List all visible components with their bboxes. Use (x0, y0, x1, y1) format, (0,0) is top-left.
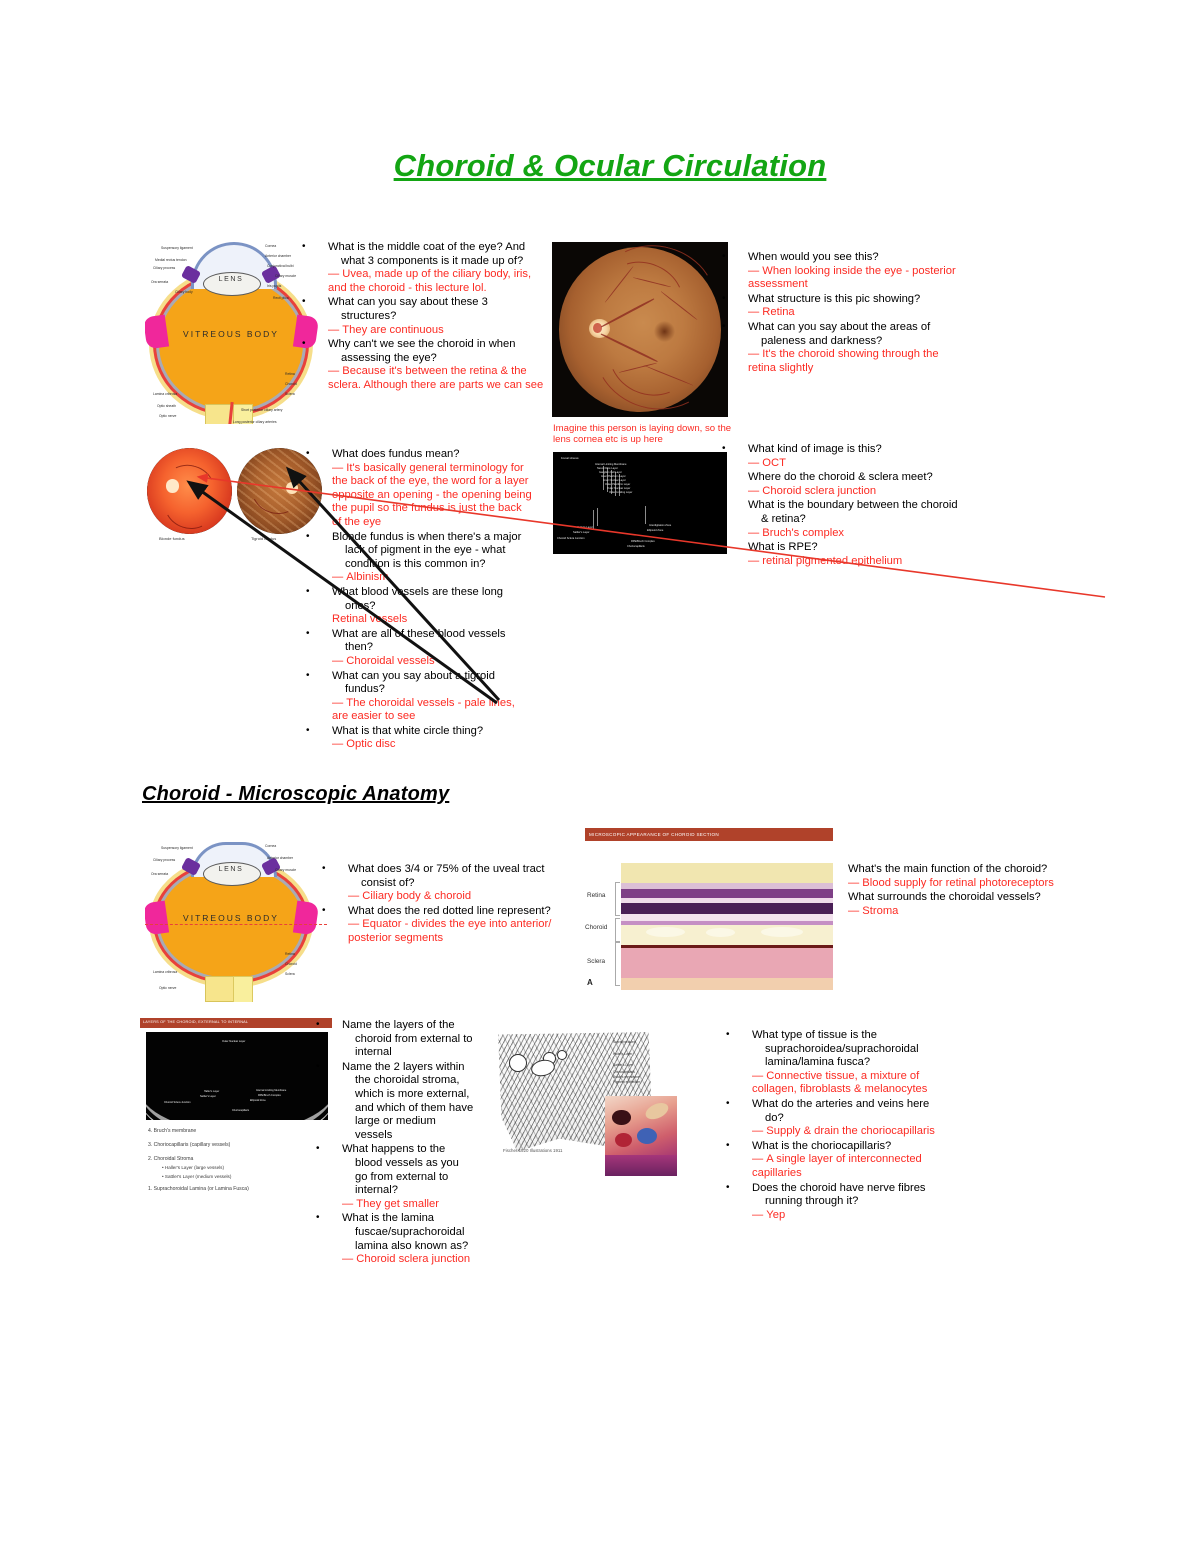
eye-label-left-0: Suspensory ligament (161, 246, 193, 250)
question-line: Blonde fundus is when there's a major la… (345, 530, 532, 572)
equator-dotted-line (145, 924, 327, 925)
lens-label: LENS (203, 276, 259, 283)
eye-label-left-7: Optic nerve (159, 414, 176, 418)
vitreous-body-label: VITREOUS BODY (183, 328, 279, 340)
engraving-label-0: Suprachoroidea (613, 1040, 636, 1044)
engraving-label-5: Pigment epithelium (613, 1080, 640, 1084)
montage-caption-left: Blonde fundus (159, 536, 185, 541)
question-line: What is the middle coat of the eye? And … (341, 240, 544, 268)
qa-block-4: What kind of image is this?OCTWhere do t… (748, 442, 964, 568)
question-line: Does the choroid have nerve fibres runni… (765, 1181, 948, 1209)
eye-label-right-3: Retina (285, 952, 295, 956)
eye-label-left-1: Ciliary process (153, 858, 175, 862)
answer-line: OCT (748, 457, 964, 471)
blonde-fundus-image (147, 448, 232, 534)
page-title: Choroid & Ocular Circulation (330, 148, 890, 184)
oct-layer-label-4: Inner Nuclear Layer (603, 479, 626, 482)
oct-b-scan-top: Foveal vitreous Internal Limiting Membra… (553, 452, 727, 554)
qa-block-7: Name the layers of the choroid from exte… (342, 1018, 474, 1267)
oct-inline-label-sattlers: Sattler's Layer (200, 1095, 216, 1098)
histo-band-top (621, 863, 833, 883)
eye-label-left-4: Optic nerve (159, 986, 176, 990)
eye-anatomy-diagram-top: LENS VITREOUS BODY Suspensory ligament M… (145, 232, 327, 424)
choroid-layer-item-0: 4. Bruch's membrane (148, 1128, 196, 1135)
histology-label-2: Sclera (587, 958, 605, 965)
question-line: What type of tissue is the suprachoroide… (765, 1028, 948, 1070)
answer-line: Bruch's complex (748, 527, 964, 541)
answer-line: Choroidal vessels (332, 655, 532, 669)
vessel-cross-section-3 (557, 1050, 567, 1060)
question-line: What do the arteries and veins here do? (765, 1097, 948, 1125)
question-line: What is the boundary between the choroid… (761, 498, 964, 526)
answer-line: Supply & drain the choriocapillaris (752, 1125, 948, 1139)
question-line: Name the 2 layers within the choroidal s… (355, 1060, 474, 1143)
oct-layer-label-3: Inner Plexiform Layer (601, 475, 626, 478)
oct-lower-label-5: RPE/Bruch Complex (631, 540, 655, 543)
eye-label-bottom-1: Long posterior ciliary arteries (233, 420, 277, 424)
answer-line: Retinal vessels (332, 613, 532, 627)
answer-line: Optic disc (332, 738, 532, 752)
eye-label-right-6: Retina (285, 372, 295, 376)
histo-band-onl (621, 903, 833, 914)
lens-label: LENS (203, 866, 259, 873)
question-line: What can you say about a tigroid fundus? (345, 669, 532, 697)
eye-label-right-0: Cornea (265, 244, 276, 248)
answer-line: Equator - divides the eye into anterior/… (348, 918, 578, 945)
answer-line: Albinism (332, 571, 532, 585)
recti-muscle-left (145, 315, 169, 350)
eye-label-bottom-0: Short posterior ciliary artery (241, 408, 282, 412)
qa-block-6: What's the main function of the choroid?… (848, 862, 1066, 918)
eye-label-left-5: Lamina cribrosa (153, 392, 177, 396)
vitreous-body-label: VITREOUS BODY (183, 912, 279, 924)
eye-label-right-3: Ciliary muscle (275, 274, 296, 278)
fundus-comparison-montage: Blonde fundus Tigroid fundus (145, 448, 325, 546)
engraving-label-2: Sattler's Layer (613, 1063, 633, 1067)
question-line: What can you say about the areas of pale… (761, 320, 966, 348)
qa-block-1: What is the middle coat of the eye? And … (328, 240, 544, 393)
answer-line: Retina (748, 306, 966, 320)
eye-label-left-3: Ora serrata (151, 280, 168, 284)
eye-label-right-0: Cornea (265, 844, 276, 848)
choroid-layers-oct-image: Outer Nuclear Layer Haller's Layer Sattl… (146, 1032, 328, 1120)
question-line: What does the red dotted line represent? (361, 904, 578, 919)
histology-choroid-section: MICROSCOPIC APPEARANCE OF CHOROID SECTIO… (585, 828, 833, 990)
montage-caption-right: Tigroid fundus (251, 536, 276, 541)
histo-bracket-choroid (615, 918, 620, 942)
question-line: What are all of these blood vessels then… (345, 627, 532, 655)
oct-inline-label-ez: Ellipsoid Zone (250, 1099, 266, 1102)
qa-block-5: What does 3/4 or 75% of the uveal tract … (348, 862, 578, 946)
art-pigment-layer (605, 1155, 677, 1176)
eye-label-right-4: Choroid (285, 962, 297, 966)
eye-label-left-1: Medial rectus tendon (155, 258, 186, 262)
recti-muscle-left (145, 901, 169, 936)
histo-bracket-retina (615, 882, 620, 916)
question-line: Why can't we see the choroid in when ass… (341, 337, 544, 365)
fundus-orientation-caption: Imagine this person is laying down, so t… (553, 423, 739, 446)
oct-layer-label-1: Nerve Fibre Layer (597, 467, 618, 470)
question-line: What kind of image is this? (761, 442, 964, 457)
choroid-layers-panel: LAYERS OF THE CHOROID, EXTERNAL TO INTER… (140, 1018, 332, 1198)
engraving-label-3: Choriocapillaris (613, 1070, 635, 1074)
eye-label-left-2: Ora serrata (151, 872, 168, 876)
question-line: What does 3/4 or 75% of the uveal tract … (361, 862, 578, 890)
slide-page: Choroid & Ocular Circulation LENS VITREO… (0, 0, 1200, 1553)
histo-bracket-sclera (615, 942, 620, 986)
eye-label-right-5: Sclera (285, 972, 295, 976)
histo-band-sclera-deep (621, 978, 833, 990)
answer-line: Uvea, made up of the ciliary body, iris,… (328, 268, 544, 295)
engraving-credit: Fischer 1920 Illustrations 1911 (503, 1148, 562, 1153)
oct-layer-label-7: Outer Limiting Layer (609, 491, 632, 494)
histology-label-1: Choroid (585, 924, 607, 931)
eye-label-right-1: Anterior chamber (265, 254, 291, 258)
qa-block-2: When would you see this?When looking ins… (748, 250, 966, 375)
oct-layer-label-6: Outer Nuclear Layer (607, 487, 630, 490)
oct-lower-label-2: Choroid Sclera Junction (557, 537, 585, 540)
oct-inline-label-ilm: Internal Limiting Membrane (256, 1089, 286, 1092)
question-line: Name the layers of the choroid from exte… (355, 1018, 474, 1060)
vessel-cross-section-1 (509, 1054, 527, 1072)
oct-leader-lower-1 (597, 508, 598, 526)
art-vessel-dark-1 (612, 1110, 631, 1124)
oct-lower-label-6: Choriocapillaris (627, 545, 645, 548)
eye-label-left-4: Ciliary body (175, 290, 193, 294)
eye-label-left-3: Lamina cribrosa (153, 970, 177, 974)
question-line: What can you say about these 3 structure… (341, 295, 544, 323)
eye-label-right-5: Recti plica (273, 296, 289, 300)
oct-layer-label-0: Internal Limiting Membrane (595, 463, 626, 466)
question-line: What structure is this pic showing? (761, 292, 966, 307)
question-line: What surrounds the choroidal vessels? (861, 890, 1066, 905)
fundus-photograph (552, 242, 728, 417)
choroid-layer-item-3: 1. Suprachoroidal Lamina (or Lamina Fusc… (148, 1186, 249, 1193)
answer-line: Stroma (848, 905, 1066, 919)
answer-line: retinal pigmented epithelium (748, 555, 964, 569)
question-line: What blood vessels are these long ones? (345, 585, 532, 613)
tigroid-fundus-image (237, 448, 322, 534)
answer-line: Yep (752, 1209, 948, 1223)
eye-label-left-6: Optic sheath (157, 404, 176, 408)
oct-inline-label-hallers: Haller's Layer (204, 1090, 219, 1093)
answer-line: Blood supply for retinal photoreceptors (848, 877, 1066, 891)
choroid-layer-sub-1: • Sattler's Layer (medium vessels) (162, 1174, 231, 1180)
choroidal-vessel-lumen-1 (646, 927, 684, 937)
oct-lower-label-4: Ellipsoid Zone (647, 529, 663, 532)
eye-anatomy-diagram-bottom: LENS VITREOUS BODY Suspensory ligament C… (145, 840, 327, 1002)
eye-label-right-1: Anterior chamber (267, 856, 293, 860)
question-line: What's the main function of the choroid? (861, 862, 1066, 877)
oct-lower-label-1: Sattler's Layer (573, 531, 590, 534)
question-line: What does fundus mean? (345, 447, 532, 462)
optic-nerve-sheath (233, 976, 253, 1002)
oct-layer-label-2: Ganglion Cell Layer (599, 471, 622, 474)
answer-line: Choroid sclera junction (342, 1253, 474, 1267)
answer-line: It's the choroid showing through the ret… (748, 348, 966, 375)
histo-band-photoreceptor (621, 914, 833, 921)
answer-line: Choroid sclera junction (748, 485, 964, 499)
oct-leader-lower-2 (593, 510, 594, 530)
answer-line: They are continuous (328, 324, 544, 338)
question-line: When would you see this? (761, 250, 966, 265)
eye-label-right-2: Ciliary muscle (275, 868, 296, 872)
engraving-label-4: Bruch's membrane (613, 1075, 640, 1079)
art-vessel-blue-1 (637, 1128, 657, 1144)
histology-banner-text: MICROSCOPIC APPEARANCE OF CHOROID SECTIO… (589, 832, 719, 837)
qa-block-8: What type of tissue is the suprachoroide… (752, 1028, 948, 1222)
section-heading-microscopic-anatomy: Choroid - Microscopic Anatomy (142, 783, 449, 806)
oct-inline-label-cc: Choriocapillaris (232, 1109, 249, 1112)
oct-inline-label: Outer Nuclear Layer (222, 1040, 245, 1043)
histo-band-sclera (621, 948, 833, 978)
question-line: What is the lamina fuscae/suprachoroidal… (355, 1211, 474, 1253)
eye-label-left-2: Ciliary process (153, 266, 175, 270)
answer-line: It's basically general terminology for t… (332, 462, 532, 530)
engraving-label-1: Haller's Layer (613, 1052, 632, 1056)
question-line: Where do the choroid & sclera meet? (761, 470, 964, 485)
choroidal-vessel-lumen-3 (761, 927, 803, 937)
histology-label-0: Retina (587, 892, 605, 899)
oct-leader-lower-3 (645, 506, 646, 524)
oct-lower-label-3: Interdigitation Zone (649, 524, 671, 527)
oct-lower-label-0: Haller's Layer (577, 526, 593, 529)
histology-slide (621, 863, 833, 986)
choroid-layer-sub-0: • Haller's Layer (large vessels) (162, 1165, 224, 1171)
eye-label-right-4: Iris pupils (267, 284, 281, 288)
question-line: What is that white circle thing? (345, 724, 532, 739)
oct-corner-label: Foveal vitreous (561, 457, 579, 460)
oct-inline-label-csj: Choroid Sclera Junction (164, 1101, 191, 1104)
qa-block-3: What does fundus mean?It's basically gen… (332, 447, 532, 752)
answer-line: A single layer of interconnected capilla… (752, 1153, 948, 1180)
answer-line: Ciliary body & choroid (348, 890, 578, 904)
choroid-layers-banner-text: LAYERS OF THE CHOROID, EXTERNAL TO INTER… (143, 1020, 248, 1024)
question-line: What is RPE? (761, 540, 964, 555)
eye-label-right-8: Sclera (285, 392, 295, 396)
choroid-layer-item-1: 3. Choriocapillaris (capillary vessels) (148, 1142, 230, 1149)
answer-line: Because it's between the retina & the sc… (328, 365, 544, 392)
choroid-3d-histology-art (605, 1096, 677, 1176)
oct-layer-label-5: Outer Plexiform Layer (605, 483, 630, 486)
question-line: What is the choriocapillaris? (765, 1139, 948, 1154)
eye-label-right-2: Conjunctival bulbi (267, 264, 294, 268)
oct-inline-label-rpe: RPE/Bruch Complex (258, 1094, 281, 1097)
eye-label-left-0: Suspensory ligament (161, 846, 193, 850)
answer-line: Connective tissue, a mixture of collagen… (752, 1070, 948, 1097)
choroid-layer-item-2: 2. Choroidal Stroma (148, 1156, 193, 1163)
answer-line: They get smaller (342, 1198, 474, 1212)
histology-panel-letter: A (587, 978, 593, 987)
answer-line: The choroidal vessels - pale lines, are … (332, 697, 532, 724)
question-line: What happens to the blood vessels as you… (355, 1142, 474, 1197)
answer-line: When looking inside the eye - posterior … (748, 265, 966, 292)
recti-muscle-right (293, 901, 319, 936)
eye-label-right-7: Choroid (285, 382, 297, 386)
histo-band-inl (621, 889, 833, 898)
